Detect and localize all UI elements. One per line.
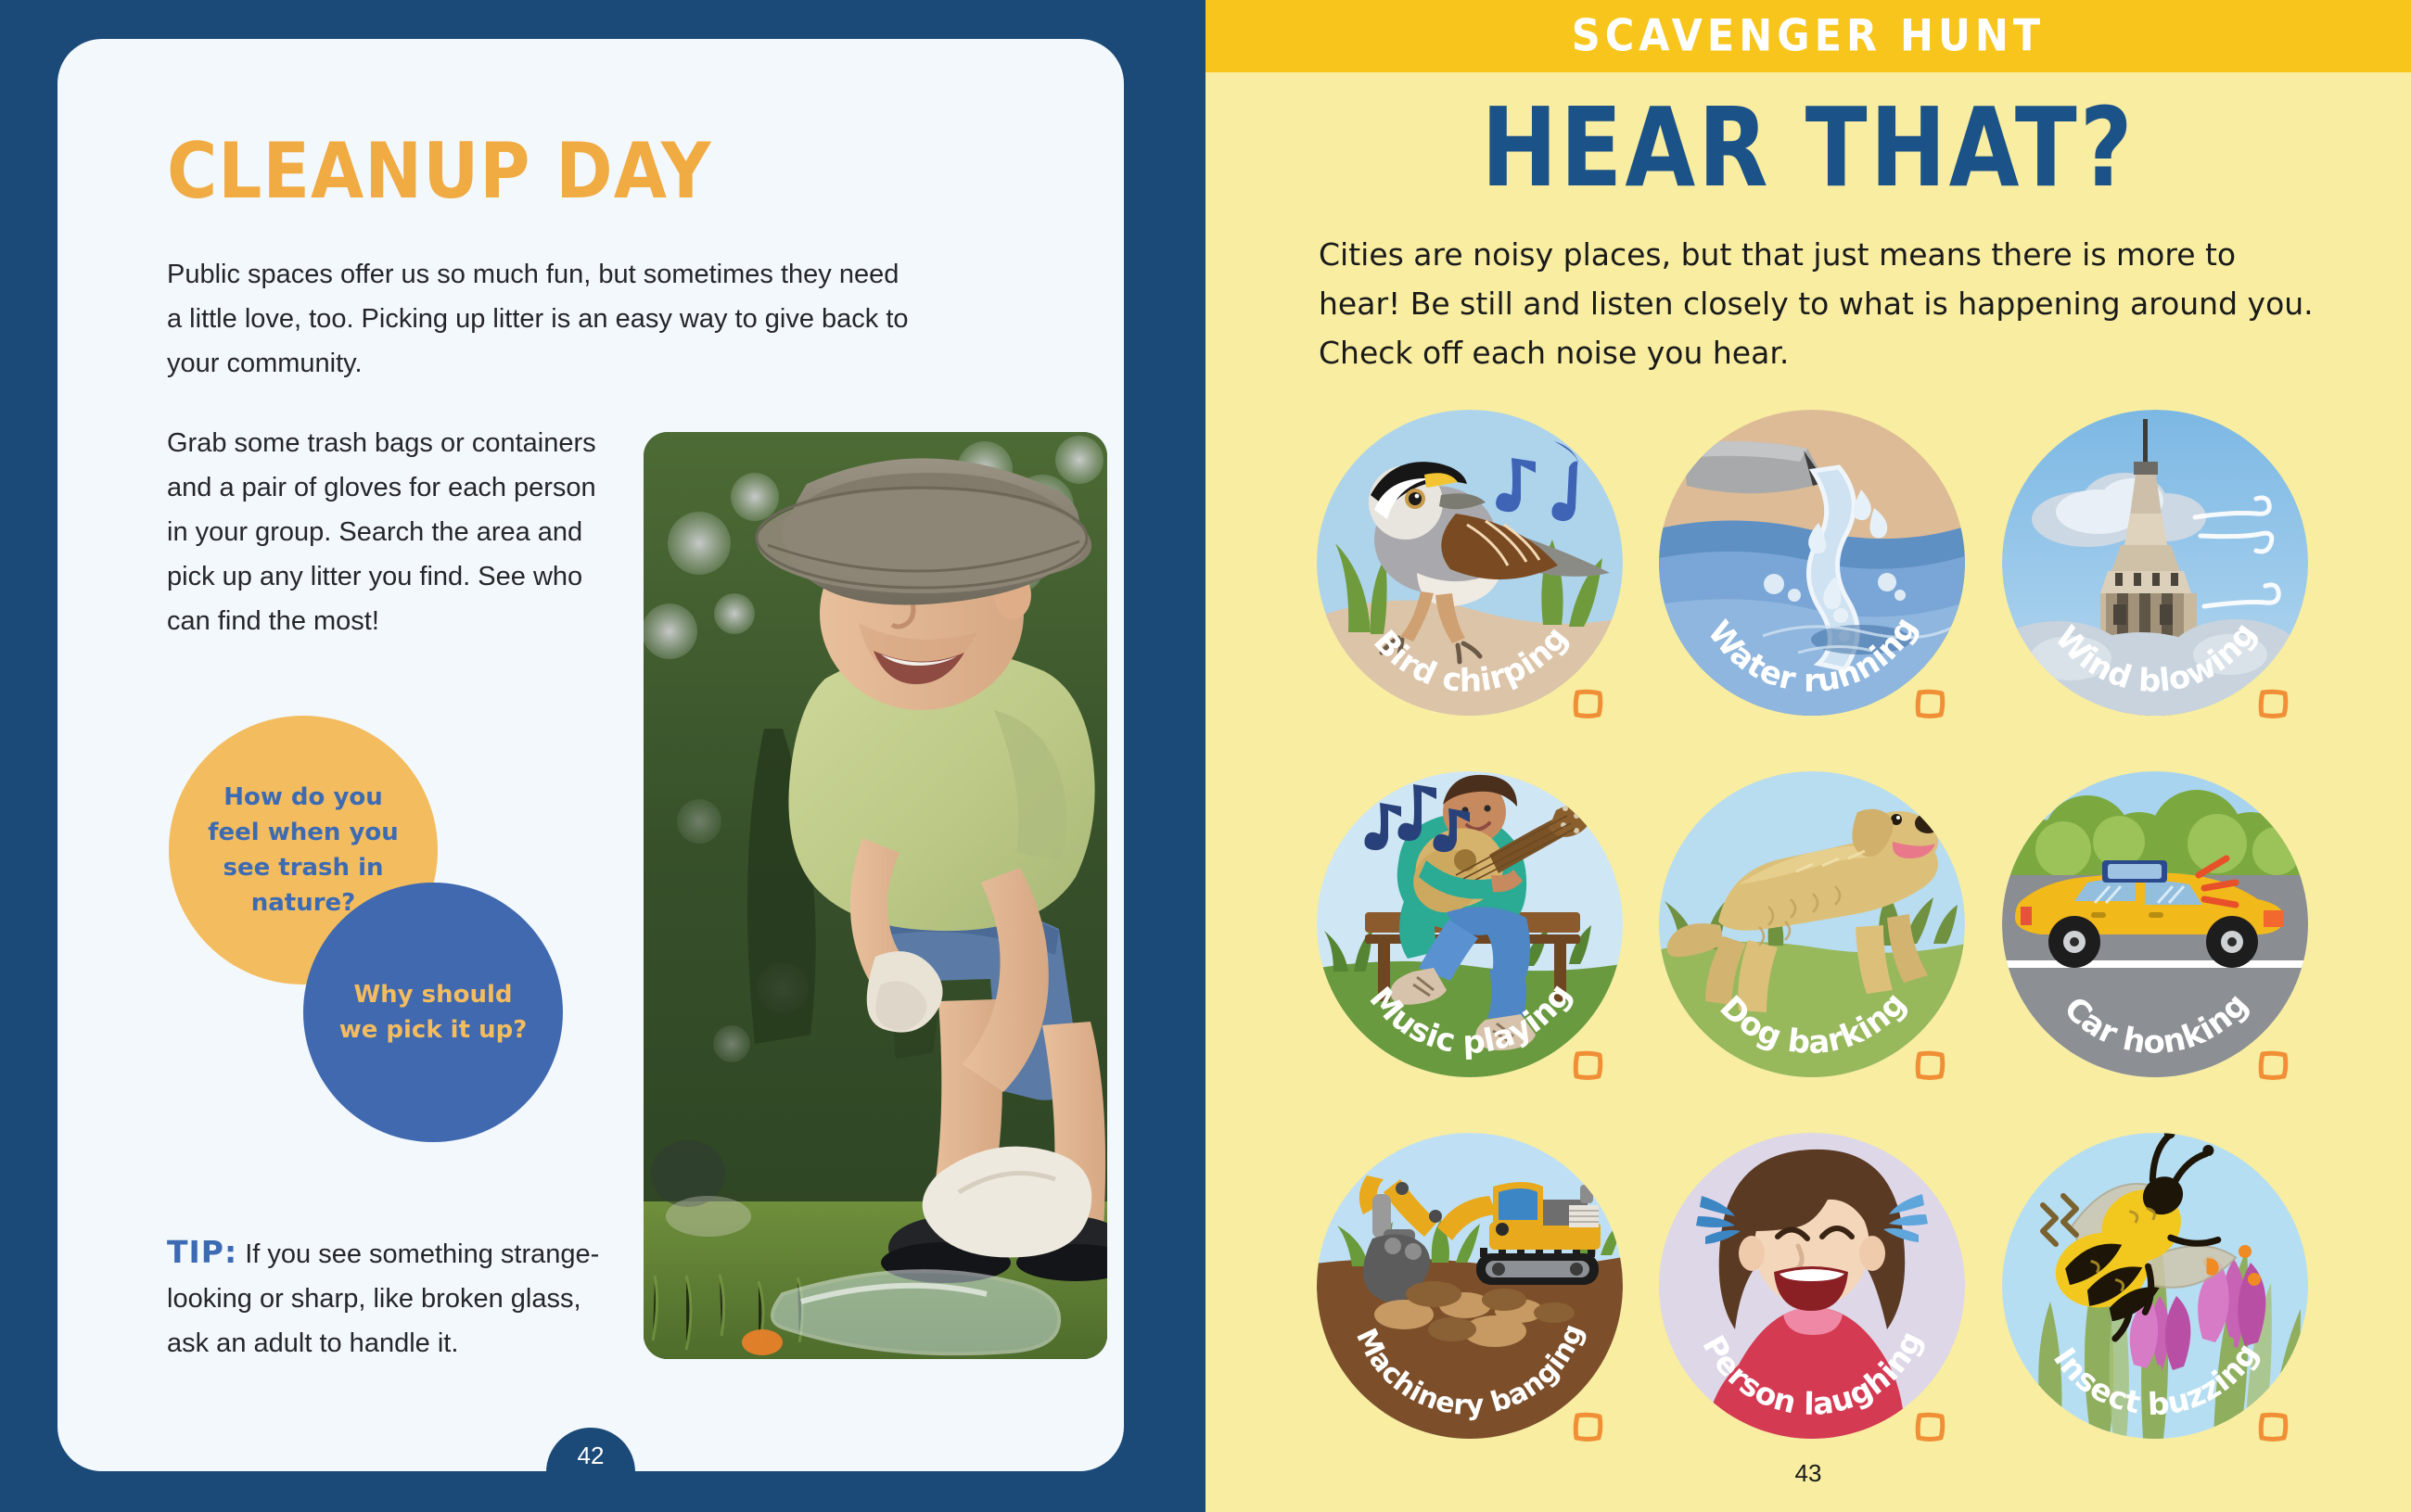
question-bubble-blue-text: Why should we pick it up? [339, 977, 528, 1048]
page-number-right: 43 [1205, 1459, 2411, 1488]
left-page: CLEANUP DAY Public spaces offer us so mu… [0, 0, 1205, 1512]
checkbox-music-playing[interactable] [1573, 1049, 1604, 1081]
checkbox-machinery-banging[interactable] [1573, 1411, 1604, 1442]
faucet-icon: Water running [1659, 410, 1965, 716]
noise-item-person-laughing: Person laughing [1648, 1133, 1983, 1494]
checkbox-insect-buzzing[interactable] [2258, 1411, 2290, 1442]
right-page-title: HEAR THAT? [1205, 85, 2411, 212]
content-card: CLEANUP DAY Public spaces offer us so mu… [57, 39, 1124, 1471]
instructions-paragraph: Grab some trash bags or containers and a… [167, 421, 603, 643]
checkbox-bird-chirping[interactable] [1573, 688, 1604, 719]
excavator-icon: Machinery banging [1317, 1133, 1623, 1439]
noise-item-water-running: Water running [1648, 410, 1983, 771]
checkbox-car-honking[interactable] [2258, 1049, 2290, 1081]
tip-block: TIP: If you see something strange-lookin… [167, 1230, 603, 1366]
noise-item-music-playing: Music playing [1306, 771, 1640, 1133]
page-number-left: 42 [578, 1442, 605, 1472]
checkbox-dog-barking[interactable] [1915, 1049, 1946, 1081]
noise-item-insect-buzzing: Insect buzzing [1991, 1133, 2326, 1494]
scavenger-hunt-label: SCAVENGER HUNT [1572, 11, 2046, 62]
intro-paragraph: Public spaces offer us so much fun, but … [167, 252, 1057, 386]
tip-label: TIP: [167, 1234, 237, 1270]
bird-icon: Bird chirping [1317, 410, 1623, 716]
noise-badge-grid: Bird chirping [1306, 410, 2326, 1494]
right-page-intro: Cities are noisy places, but that just m… [1319, 230, 2315, 377]
right-page: SCAVENGER HUNT HEAR THAT? Cities are noi… [1205, 0, 2411, 1512]
noise-item-bird-chirping: Bird chirping [1306, 410, 1640, 771]
taxi-icon: Car honking [2002, 771, 2308, 1077]
checkbox-person-laughing[interactable] [1915, 1411, 1946, 1442]
dog-icon: Dog barking [1659, 771, 1965, 1077]
bee-icon: Insect buzzing [2002, 1133, 2308, 1439]
noise-item-car-honking: Car honking [1991, 771, 2326, 1133]
checkbox-water-running[interactable] [1915, 688, 1946, 719]
checkbox-wind-blowing[interactable] [2258, 688, 2290, 719]
scavenger-hunt-banner: SCAVENGER HUNT [1205, 0, 2411, 72]
book-spread: CLEANUP DAY Public spaces offer us so mu… [0, 0, 2411, 1512]
cleanup-photo [644, 432, 1107, 1359]
noise-item-machinery-banging: Machinery banging [1306, 1133, 1640, 1494]
question-bubble-blue: Why should we pick it up? [303, 883, 563, 1142]
page-title: CLEANUP DAY [167, 127, 712, 216]
skyscraper-icon: Wind blowing [2002, 410, 2308, 716]
guitarist-icon: Music playing [1317, 771, 1623, 1077]
noise-item-wind-blowing: Wind blowing [1991, 410, 2326, 771]
noise-item-dog-barking: Dog barking [1648, 771, 1983, 1133]
laughing-face-icon: Person laughing [1659, 1133, 1965, 1439]
